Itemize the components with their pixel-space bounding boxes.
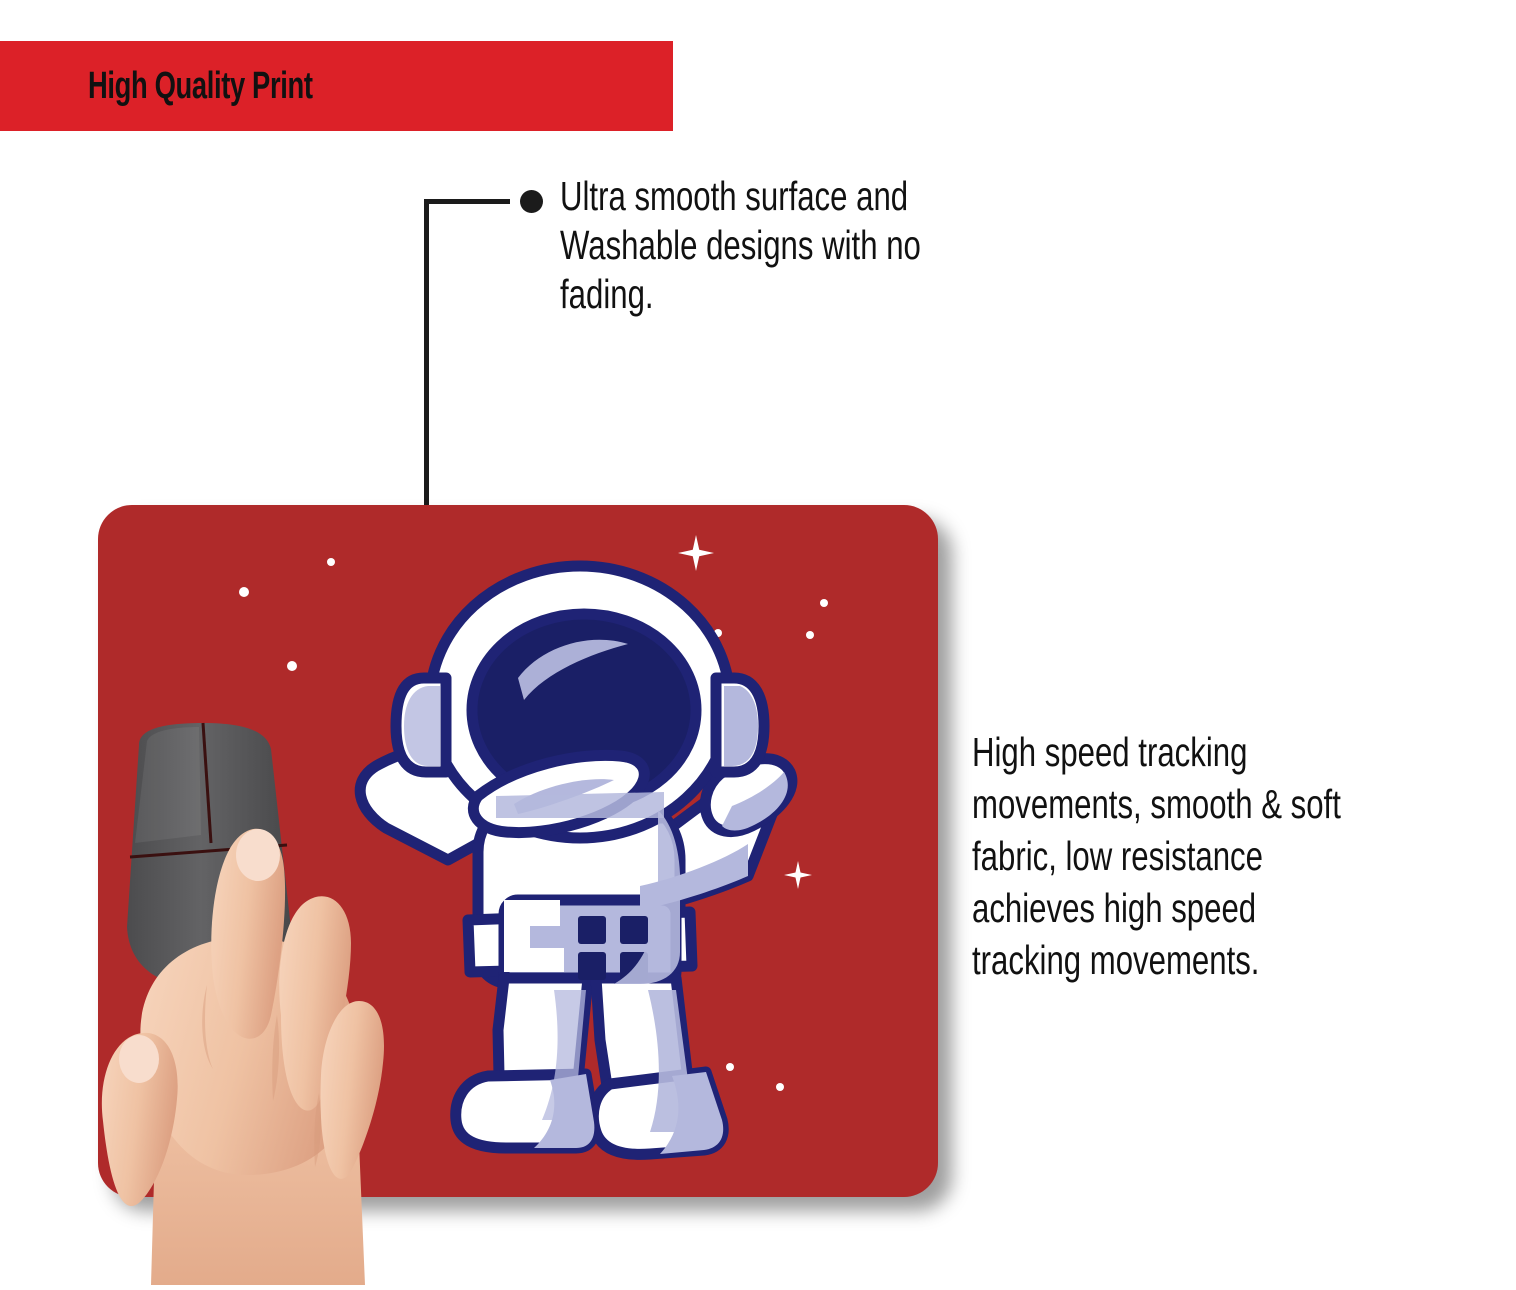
callout-line-3: fading. xyxy=(560,270,940,319)
feature-line-4: achieves high speed xyxy=(972,882,1367,934)
star-dot-icon xyxy=(239,587,249,597)
callout-line-2: Washable designs with no xyxy=(560,221,940,270)
leader-vertical-segment xyxy=(424,199,429,518)
thumb-nail xyxy=(119,1035,159,1083)
star-dot-icon xyxy=(287,661,297,671)
callout-line-1: Ultra smooth surface and xyxy=(560,172,940,221)
hand-on-mouse xyxy=(95,715,425,1285)
feature-line-1: High speed tracking xyxy=(972,726,1367,778)
index-nail xyxy=(236,829,280,881)
feature-line-2: movements, smooth & soft xyxy=(972,778,1367,830)
bullet-dot-icon xyxy=(520,190,543,213)
star-dot-icon xyxy=(820,599,828,607)
leader-horizontal-segment xyxy=(424,199,510,204)
callout-text-block: Ultra smooth surface and Washable design… xyxy=(560,172,1060,319)
feature-text-block: High speed tracking movements, smooth & … xyxy=(972,726,1492,986)
header-banner: High Quality Print xyxy=(0,41,673,131)
page-title: High Quality Print xyxy=(88,65,313,108)
star-dot-icon xyxy=(806,631,814,639)
feature-line-5: tracking movements. xyxy=(972,934,1367,986)
callout-leader-line xyxy=(418,190,538,520)
feature-line-3: fabric, low resistance xyxy=(972,830,1367,882)
